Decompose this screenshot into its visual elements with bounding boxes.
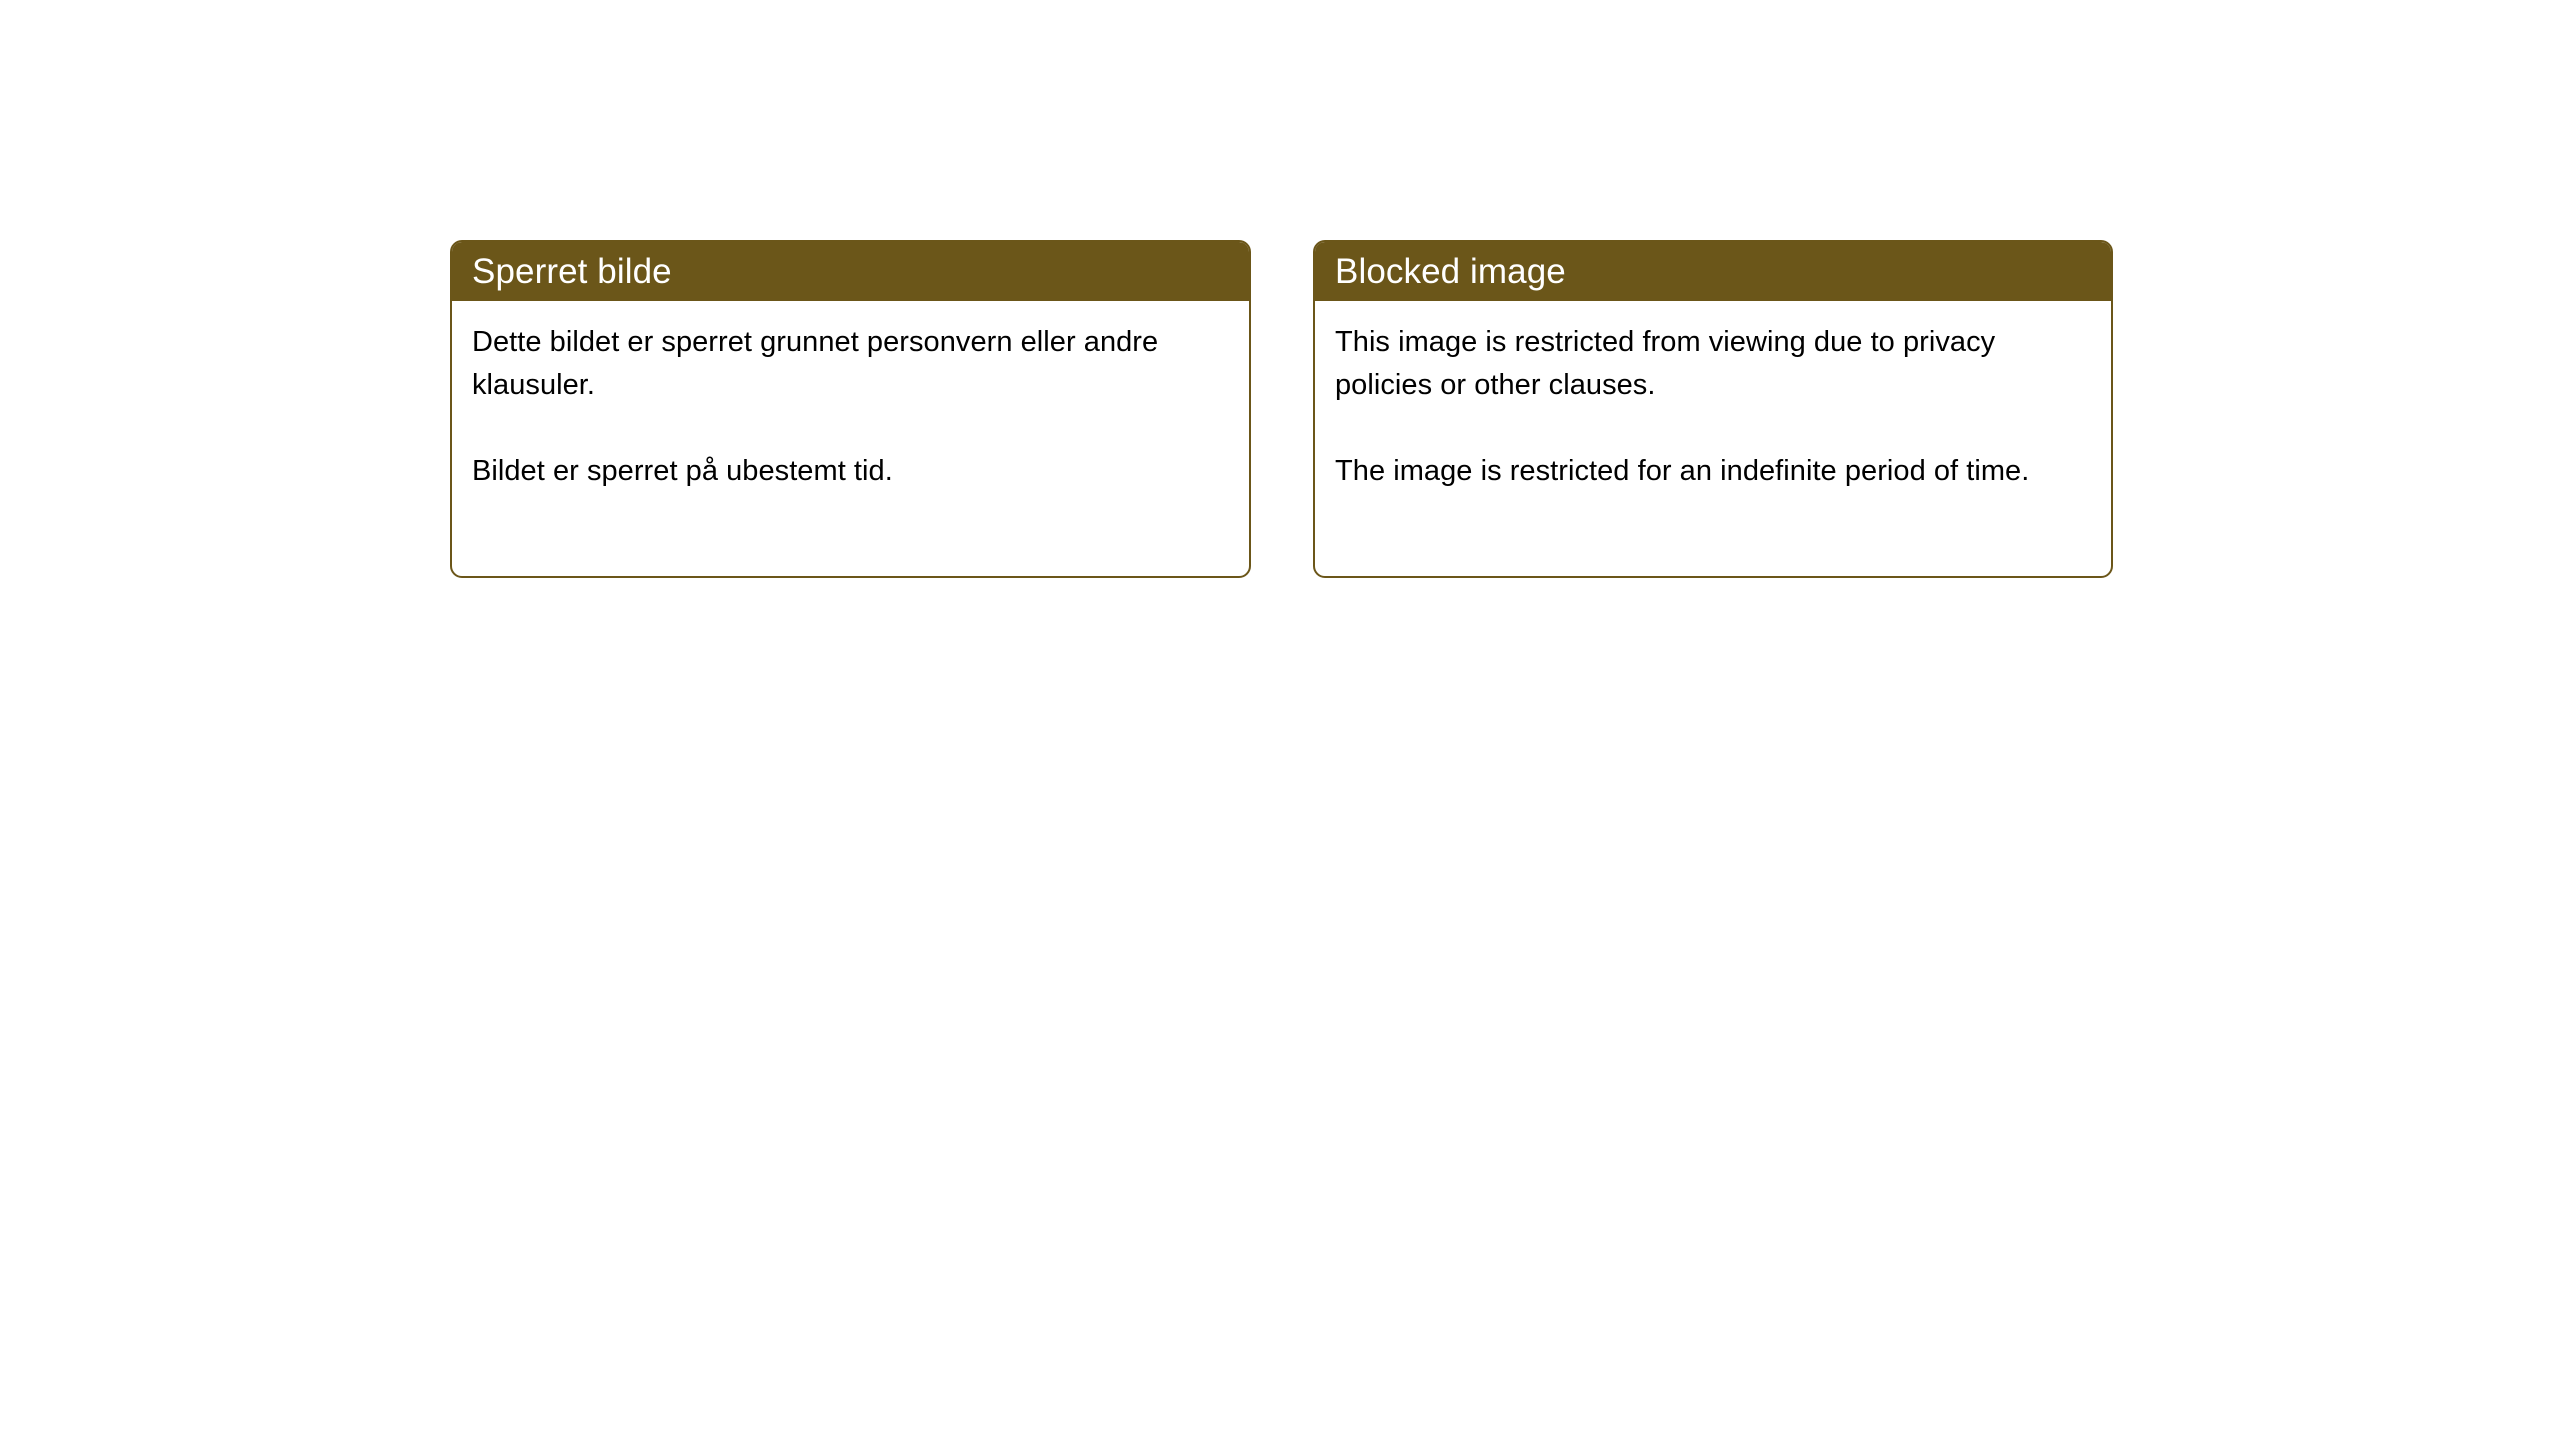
card-header-norwegian: Sperret bilde [450,240,1251,301]
card-body-norwegian: Dette bildet er sperret grunnet personve… [452,301,1249,493]
card-paragraph-reason-norwegian: Dette bildet er sperret grunnet personve… [472,321,1229,407]
card-paragraph-reason-english: This image is restricted from viewing du… [1335,321,2091,407]
blocked-image-notice-card-english: Blocked image This image is restricted f… [1313,240,2113,578]
card-title-english: Blocked image [1335,254,1566,289]
card-header-english: Blocked image [1313,240,2113,301]
card-body-english: This image is restricted from viewing du… [1315,301,2111,493]
card-paragraph-duration-norwegian: Bildet er sperret på ubestemt tid. [472,450,1229,493]
card-title-norwegian: Sperret bilde [472,254,672,289]
blocked-image-notice-card-norwegian: Sperret bilde Dette bildet er sperret gr… [450,240,1251,578]
page-root: Sperret bilde Dette bildet er sperret gr… [0,0,2560,1440]
card-paragraph-duration-english: The image is restricted for an indefinit… [1335,450,2091,493]
